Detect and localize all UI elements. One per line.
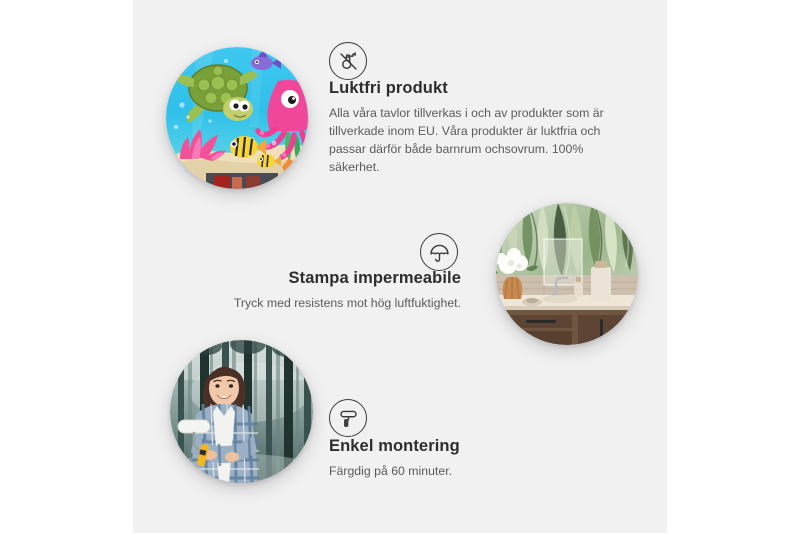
woman-paint-roller-forest-wallpaper-photo [170,340,313,483]
feature-text-easy-installation: Enkel montering Färgdig på 60 minuter. [329,436,629,480]
feature-title: Enkel montering [329,436,629,457]
paint-roller-icon [329,399,367,437]
product-feature-infographic: Luktfri produkt Alla våra tavlor tillver… [0,0,800,533]
content-panel: Luktfri produkt Alla våra tavlor tillver… [133,0,667,533]
feature-block-easy-installation: Enkel montering Färgdig på 60 minuter. [133,0,667,533]
feature-description: Färgdig på 60 minuter. [329,462,629,480]
